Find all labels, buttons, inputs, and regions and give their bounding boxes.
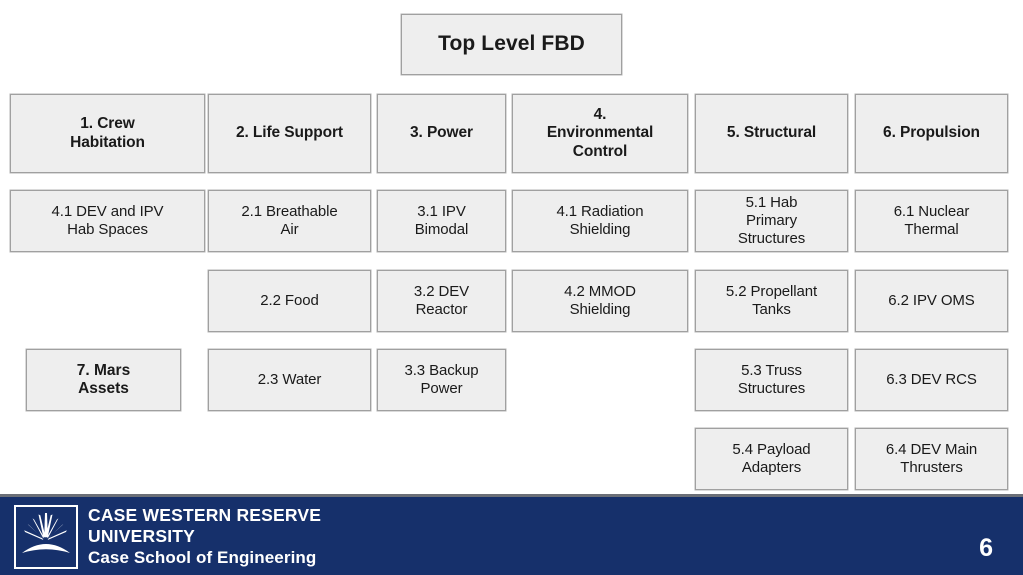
header-box-propulsion[interactable]: 6. Propulsion (855, 94, 1008, 173)
sub-box-label: 6.2 IPV OMS (888, 292, 974, 310)
sub-box-3-3-backup-power[interactable]: 3.3 Backup Power (377, 349, 506, 411)
sub-box-label: 3.1 IPV Bimodal (415, 203, 469, 238)
sub-box-label: 2.3 Water (258, 371, 322, 389)
sub-box-label: 5.1 Hab Primary Structures (738, 194, 805, 249)
header-label: 4. Environmental Control (547, 106, 653, 161)
sub-box-label: 4.2 MMOD Shielding (564, 283, 636, 318)
slide-canvas: Top Level FBD 1. Crew Habitation 4.1 DEV… (0, 0, 1023, 575)
sunburst-emblem-icon (14, 505, 78, 569)
sub-box-label: 2.1 Breathable Air (241, 203, 337, 238)
sub-box-label: 6.1 Nuclear Thermal (894, 203, 970, 238)
sub-box-label: 5.3 Truss Structures (738, 362, 805, 397)
sub-box-5-4-payload-adapters[interactable]: 5.4 Payload Adapters (695, 428, 848, 490)
sub-box-label: 4.1 Radiation Shielding (556, 203, 643, 238)
wordmark-line-1: CASE WESTERN RESERVE (88, 505, 321, 526)
slide-title-box: Top Level FBD (401, 14, 622, 75)
sub-box-3-2-dev-reactor[interactable]: 3.2 DEV Reactor (377, 270, 506, 332)
sub-box-6-1-nuclear-thermal[interactable]: 6.1 Nuclear Thermal (855, 190, 1008, 252)
header-box-life-support[interactable]: 2. Life Support (208, 94, 371, 173)
sub-box-label: 2.2 Food (260, 292, 318, 310)
sub-box-4-1-radiation-shielding[interactable]: 4.1 Radiation Shielding (512, 190, 688, 252)
sub-box-5-1-hab-primary-structures[interactable]: 5.1 Hab Primary Structures (695, 190, 848, 252)
sub-box-2-2-food[interactable]: 2.2 Food (208, 270, 371, 332)
mars-assets-label: 7. Mars Assets (77, 362, 130, 399)
sub-box-3-1-ipv-bimodal[interactable]: 3.1 IPV Bimodal (377, 190, 506, 252)
sub-box-2-3-water[interactable]: 2.3 Water (208, 349, 371, 411)
header-label: 2. Life Support (236, 124, 343, 142)
footer-banner: CASE WESTERN RESERVE UNIVERSITY Case Sch… (0, 494, 1023, 575)
sub-box-6-4-dev-main-thrusters[interactable]: 6.4 DEV Main Thrusters (855, 428, 1008, 490)
sub-box-5-2-propellant-tanks[interactable]: 5.2 Propellant Tanks (695, 270, 848, 332)
sub-box-label: 3.2 DEV Reactor (414, 283, 469, 318)
sub-box-label: 3.3 Backup Power (404, 362, 478, 397)
header-box-mars-assets[interactable]: 7. Mars Assets (26, 349, 181, 411)
sub-box-5-3-truss-structures[interactable]: 5.3 Truss Structures (695, 349, 848, 411)
slide-title-text: Top Level FBD (438, 32, 585, 57)
sub-box-6-3-dev-rcs[interactable]: 6.3 DEV RCS (855, 349, 1008, 411)
sub-box-label: 6.3 DEV RCS (886, 371, 977, 389)
header-box-environmental-control[interactable]: 4. Environmental Control (512, 94, 688, 173)
sub-box-6-2-ipv-oms[interactable]: 6.2 IPV OMS (855, 270, 1008, 332)
university-wordmark: CASE WESTERN RESERVE UNIVERSITY Case Sch… (88, 505, 321, 568)
sub-box-4-2-mmod-shielding[interactable]: 4.2 MMOD Shielding (512, 270, 688, 332)
header-box-structural[interactable]: 5. Structural (695, 94, 848, 173)
header-label: 5. Structural (727, 124, 816, 142)
sub-box-label: 6.4 DEV Main Thrusters (886, 441, 977, 476)
header-label: 6. Propulsion (883, 124, 980, 142)
page-number: 6 (979, 534, 993, 563)
sub-box-label: 5.2 Propellant Tanks (726, 283, 817, 318)
sub-box-2-1-breathable-air[interactable]: 2.1 Breathable Air (208, 190, 371, 252)
sub-box-label: 4.1 DEV and IPV Hab Spaces (52, 203, 164, 238)
header-label: 1. Crew Habitation (70, 115, 145, 152)
header-box-power[interactable]: 3. Power (377, 94, 506, 173)
sub-box-4-1-dev-ipv-hab-spaces[interactable]: 4.1 DEV and IPV Hab Spaces (10, 190, 205, 252)
sub-box-label: 5.4 Payload Adapters (732, 441, 810, 476)
header-label: 3. Power (410, 124, 473, 142)
wordmark-line-2: UNIVERSITY (88, 526, 321, 547)
header-box-crew-habitation[interactable]: 1. Crew Habitation (10, 94, 205, 173)
wordmark-line-3: Case School of Engineering (88, 548, 321, 569)
